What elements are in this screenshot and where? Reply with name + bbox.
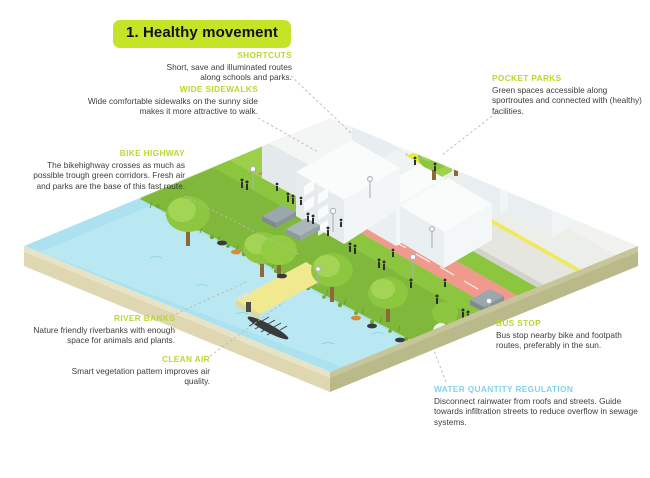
page-title: 1. Healthy movement [113,20,291,48]
callout-heading-pocket-parks: POCKET PARKS [492,73,642,84]
callout-river-banks: RIVER BANKS Nature friendly riverbanks w… [30,313,175,346]
callout-body-bike-highway: The bikehighway crosses as much as possi… [30,160,185,192]
callout-wide-sidewalks: WIDE SIDEWALKS Wide comfortable sidewalk… [72,84,258,117]
callout-heading-wide-sidewalks: WIDE SIDEWALKS [72,84,258,95]
bridge-pier [246,302,251,312]
callout-pocket-parks: POCKET PARKS Green spaces accessible alo… [492,73,642,117]
callout-heading-bus-stop: BUS STOP [496,318,644,329]
callout-clean-air: CLEAN AIR Smart vegetation pattern impro… [60,354,210,387]
callout-shortcuts: SHORTCUTS Short, save and illuminated ro… [146,50,292,83]
callout-water-quantity-regulation: WATER QUANTITY REGULATION Disconnect rai… [434,384,639,428]
callout-heading-shortcuts: SHORTCUTS [146,50,292,61]
callout-bike-highway: BIKE HIGHWAY The bikehighway crosses as … [30,148,185,192]
callout-body-river-banks: Nature friendly riverbanks with enough s… [30,325,175,346]
callout-heading-bike-highway: BIKE HIGHWAY [30,148,185,159]
callout-body-pocket-parks: Green spaces accessible along sportroute… [492,85,642,117]
callout-heading-water-quantity-regulation: WATER QUANTITY REGULATION [434,384,639,395]
callout-body-clean-air: Smart vegetation pattern improves air qu… [60,366,210,387]
callout-heading-clean-air: CLEAN AIR [60,354,210,365]
callout-body-water-quantity-regulation: Disconnect rainwater from roofs and stre… [434,396,639,428]
callout-body-shortcuts: Short, save and illuminated routes along… [146,62,292,83]
callout-body-wide-sidewalks: Wide comfortable sidewalks on the sunny … [72,96,258,117]
infographic-canvas: school [0,0,650,478]
callout-body-bus-stop: Bus stop nearby bike and footpath routes… [496,330,644,351]
callout-bus-stop: BUS STOP Bus stop nearby bike and footpa… [496,318,644,351]
callout-heading-river-banks: RIVER BANKS [30,313,175,324]
